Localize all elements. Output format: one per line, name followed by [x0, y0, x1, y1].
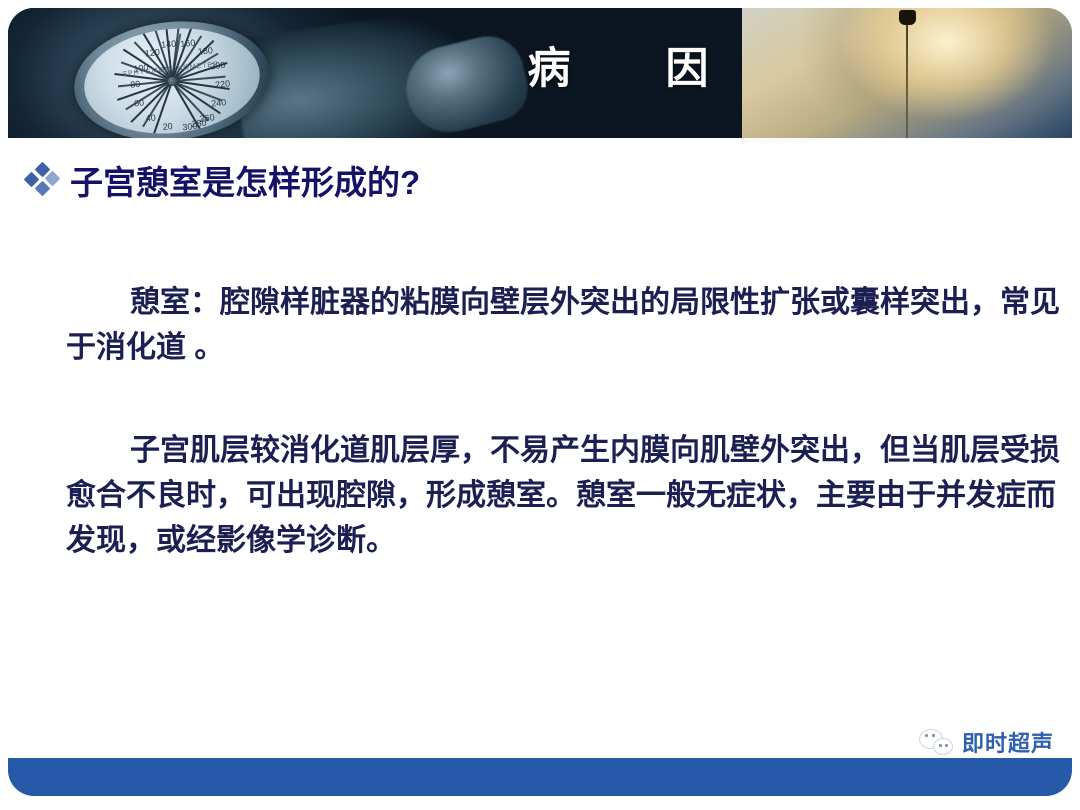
section-heading: 子宫憩室是怎样形成的? — [26, 156, 420, 204]
gauge-face: 20 40 60 80 100 120 140 160 180 200 220 … — [79, 20, 265, 138]
body-content: 憩室：腔隙样脏器的粘膜向壁层外突出的局限性扩张或囊样突出，常见于消化道 。 子宫… — [66, 250, 1066, 593]
gauge-tick-label: 20 — [162, 121, 173, 132]
slide-title: 病 因 — [488, 34, 748, 96]
section-heading-text: 子宫憩室是怎样形成的? — [70, 156, 420, 204]
gauge-tick-label: 40 — [145, 112, 156, 123]
iv-drip-tip — [899, 10, 916, 25]
gauge-tick-label: 180 — [197, 45, 213, 57]
gauge-tick-label: 220 — [215, 78, 231, 90]
iv-drip-line — [906, 24, 908, 138]
paragraph-definition: 憩室：腔隙样脏器的粘膜向壁层外突出的局限性扩张或囊样突出，常见于消化道 。 — [66, 280, 1066, 370]
header-banner: 20 40 60 80 100 120 140 160 180 200 220 … — [8, 8, 1072, 138]
footer-bar — [8, 758, 1072, 796]
gauge-tick-label: 120 — [144, 47, 160, 59]
iv-drip-photo — [742, 8, 1072, 138]
gauge-tick-label: 60 — [134, 97, 145, 108]
footer-brand: 即时超声 — [919, 726, 1054, 758]
wechat-icon — [919, 729, 953, 755]
footer-brand-text: 即时超声 — [962, 726, 1054, 758]
gauge-tick-label: 80 — [130, 79, 141, 90]
gauge-tick-label: 160 — [180, 38, 196, 50]
gauge-tick-label: 300 — [182, 121, 198, 133]
gauge-tick-label: 240 — [211, 97, 227, 109]
gauge-tick-label: 140 — [161, 38, 177, 50]
paragraph-mechanism: 子宫肌层较消化道肌层厚，不易产生内膜向肌壁外突出，但当肌层受损愈合不良时，可出现… — [66, 428, 1066, 563]
gauge-needle-hub — [167, 76, 177, 86]
diamond-cluster-bullet-icon — [26, 163, 60, 197]
